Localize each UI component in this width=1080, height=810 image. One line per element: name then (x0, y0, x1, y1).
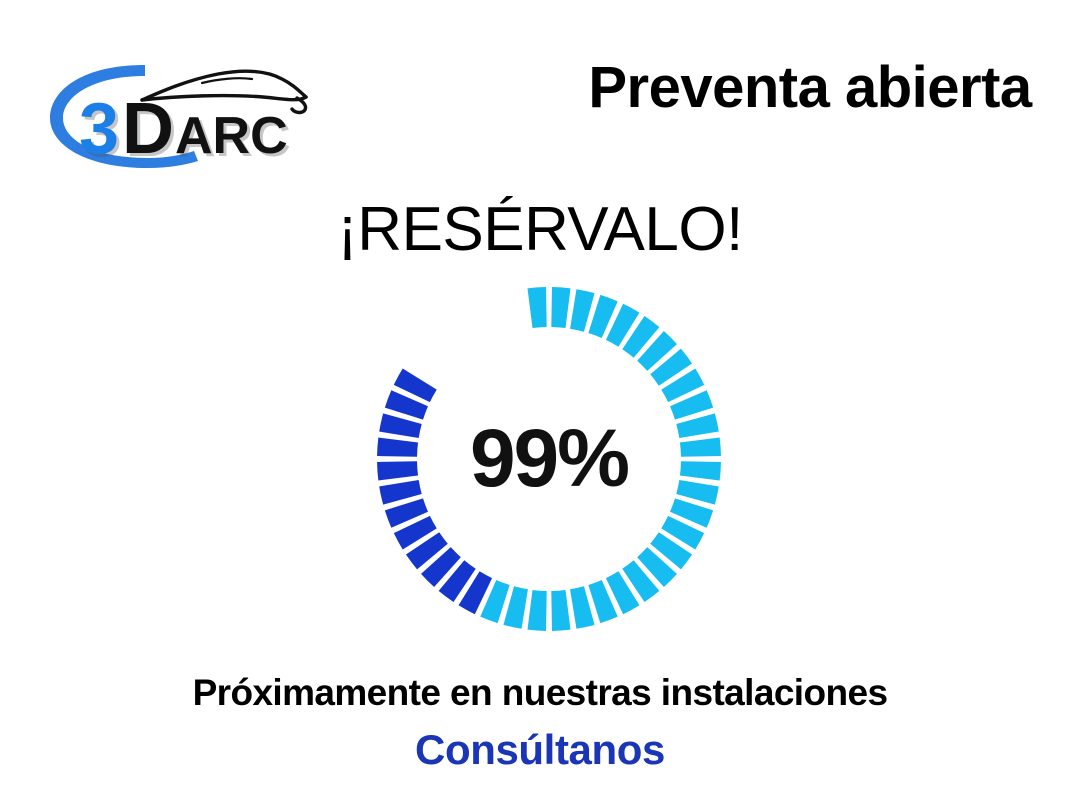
progress-ring: 99% (375, 285, 723, 633)
reserve-callout: ¡RESÉRVALO! (0, 194, 1080, 265)
progress-percentage-label: 99% (375, 285, 723, 633)
logo-digit: 3 (79, 89, 119, 169)
footer-contact-cta[interactable]: Consúltanos (0, 726, 1080, 774)
logo-word-d: D (122, 89, 174, 169)
footer-coming-soon: Próximamente en nuestras instalaciones (0, 672, 1080, 714)
promo-slide: 3 D ARC 3 D ARC Preventa abierta ¡RESÉRV… (0, 0, 1080, 810)
brand-logo[interactable]: 3 D ARC 3 D ARC (42, 52, 332, 177)
headline: Preventa abierta (560, 54, 1060, 121)
logo-word-arc: ARC (175, 107, 288, 165)
